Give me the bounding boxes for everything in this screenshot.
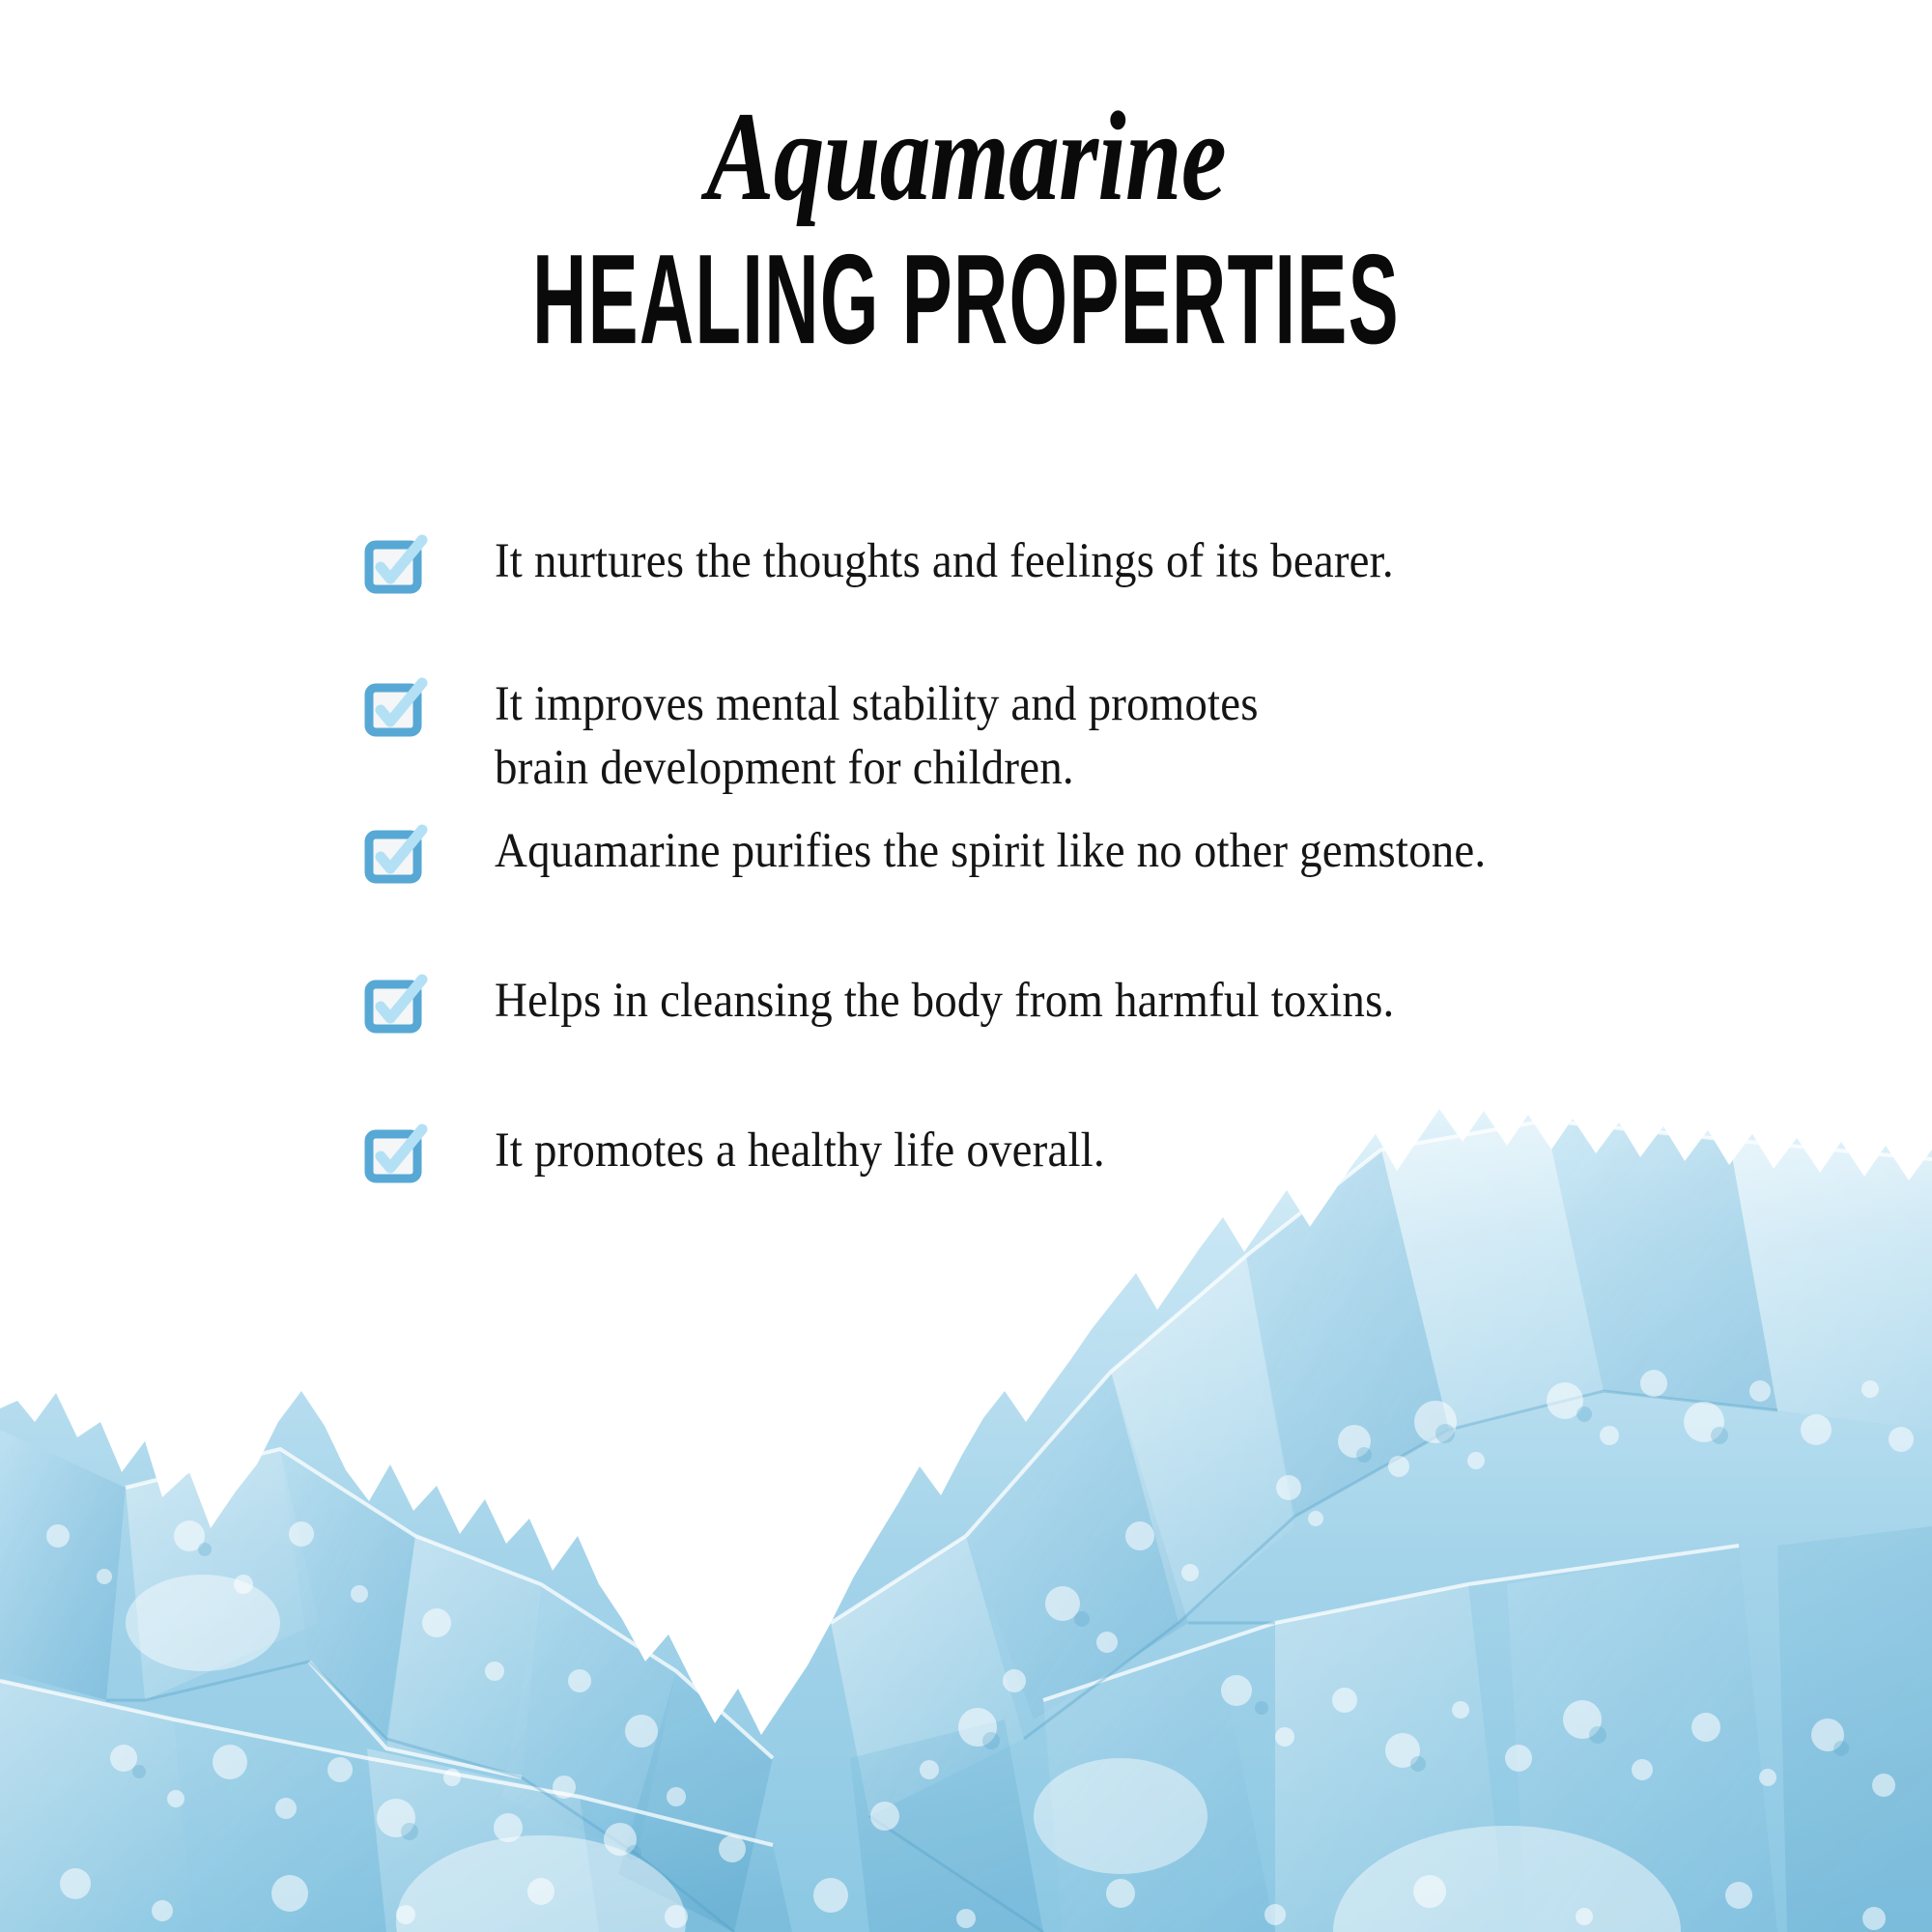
- list-item-label: It nurtures the thoughts and feelings of…: [495, 529, 1394, 593]
- list-item: It nurtures the thoughts and feelings of…: [365, 529, 1472, 597]
- list-item-label: It improves mental stability and promote…: [495, 672, 1259, 801]
- page-title: Aquamarine: [193, 0, 1739, 220]
- list-item-label: It promotes a healthy life overall.: [495, 1119, 1105, 1182]
- checkbox-checked-icon: [365, 680, 425, 740]
- heading-block: Aquamarine HEALING PROPERTIES: [0, 0, 1932, 355]
- list-item: It promotes a healthy life overall.: [365, 1119, 1158, 1186]
- crushed-ice-photo: [0, 1082, 1932, 1932]
- list-item: Helps in cleansing the body from harmful…: [365, 969, 1472, 1037]
- page-subtitle: HEALING PROPERTIES: [328, 213, 1604, 364]
- list-item: Aquamarine purifies the spirit like no o…: [365, 819, 1573, 887]
- checkbox-checked-icon: [365, 827, 425, 887]
- checkbox-checked-icon: [365, 977, 425, 1037]
- list-item-label: Aquamarine purifies the spirit like no o…: [495, 819, 1486, 883]
- list-item-label: Helps in cleansing the body from harmful…: [495, 969, 1394, 1033]
- poster-canvas: Aquamarine HEALING PROPERTIES It nurture…: [0, 0, 1932, 1932]
- checkbox-checked-icon: [365, 1126, 425, 1186]
- list-item: It improves mental stability and promote…: [365, 672, 1324, 801]
- checkbox-checked-icon: [365, 537, 425, 597]
